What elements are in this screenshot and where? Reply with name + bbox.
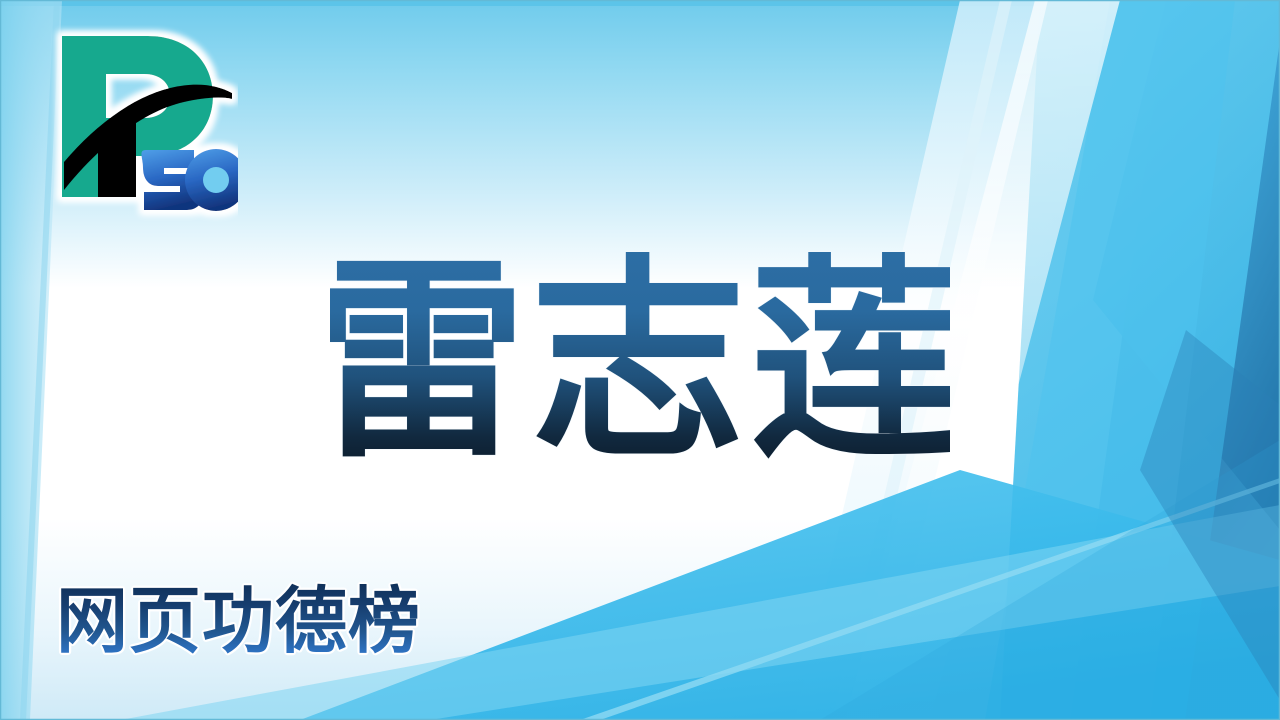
footer-text: 网页功德榜 <box>56 579 421 663</box>
logo-so-o-inner <box>203 167 229 193</box>
pso-logo[interactable] <box>48 22 238 222</box>
slide-footer: 网页功德榜 <box>52 578 482 664</box>
title-slide: 雷志莲 网页功德榜 <box>0 0 1280 720</box>
